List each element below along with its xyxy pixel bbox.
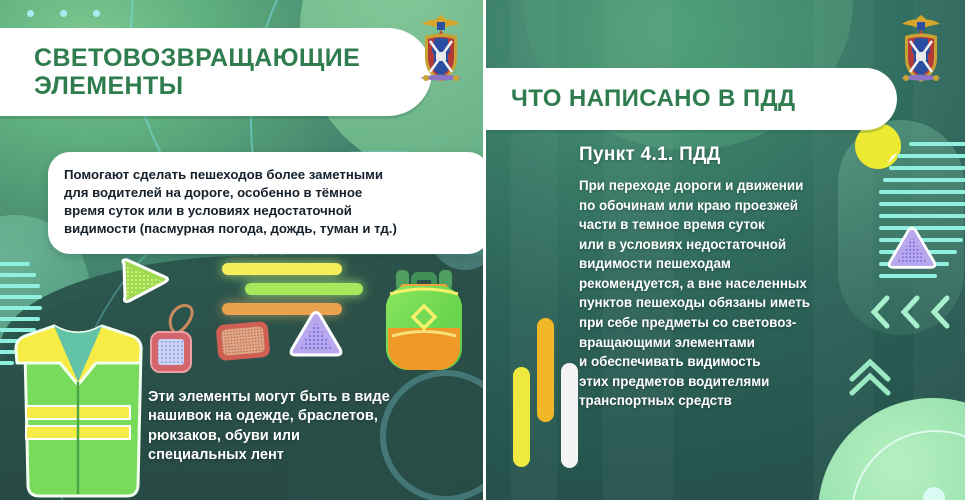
right-slide-panel: ЧТО НАПИСАНО В ПДД: [483, 0, 965, 500]
dot-icon: [60, 10, 67, 17]
safety-vest-illustration: [12, 318, 144, 500]
chevron-left-icon: [869, 295, 965, 329]
yellow-reflective-band: [222, 263, 342, 275]
top-dots-decoration: [27, 10, 100, 17]
left-title-banner: СВЕТОВОЗВРАЩАЮЩИЕ ЭЛЕМЕНТЫ: [0, 28, 432, 116]
panel-divider: [483, 0, 486, 500]
pink-keychain-reflector-icon: [148, 300, 200, 374]
dot-icon: [27, 10, 34, 17]
red-patch-reflector-icon: [215, 320, 271, 362]
mvd-emblem-icon: [412, 12, 470, 86]
bar-white: [561, 363, 578, 468]
bar-yellow: [513, 367, 530, 467]
green-reflective-band: [245, 283, 363, 295]
right-section-title: Пункт 4.1. ПДД: [579, 144, 721, 166]
left-note-text: Эти элементы могут быть в виде нашивок н…: [148, 388, 390, 465]
right-panel-title: ЧТО НАПИСАНО В ПДД: [511, 85, 796, 113]
green-triangle-reflector-icon: [118, 258, 172, 306]
dot-icon: [93, 10, 100, 17]
right-title-banner: ЧТО НАПИСАНО В ПДД: [483, 68, 897, 130]
backpack-illustration: [378, 262, 470, 374]
purple-triangle-reflector-icon: [288, 310, 344, 360]
bar-orange: [537, 318, 554, 422]
right-body-text: При переходе дороги и движении по обочин…: [579, 176, 879, 411]
left-description-card: Помогают сделать пешеходов более заметны…: [48, 152, 483, 254]
purple-triangle-reflector-icon: [886, 226, 938, 272]
left-description-text: Помогают сделать пешеходов более заметны…: [64, 166, 472, 238]
infographic-stage: СВЕТОВОЗВРАЩАЮЩИЕ ЭЛЕМЕНТЫ: [0, 0, 965, 500]
mvd-emblem-icon: [892, 12, 950, 86]
left-slide-panel: СВЕТОВОЗВРАЩАЮЩИЕ ЭЛЕМЕНТЫ: [0, 0, 483, 500]
left-panel-title: СВЕТОВОЗВРАЩАЮЩИЕ ЭЛЕМЕНТЫ: [34, 44, 360, 100]
